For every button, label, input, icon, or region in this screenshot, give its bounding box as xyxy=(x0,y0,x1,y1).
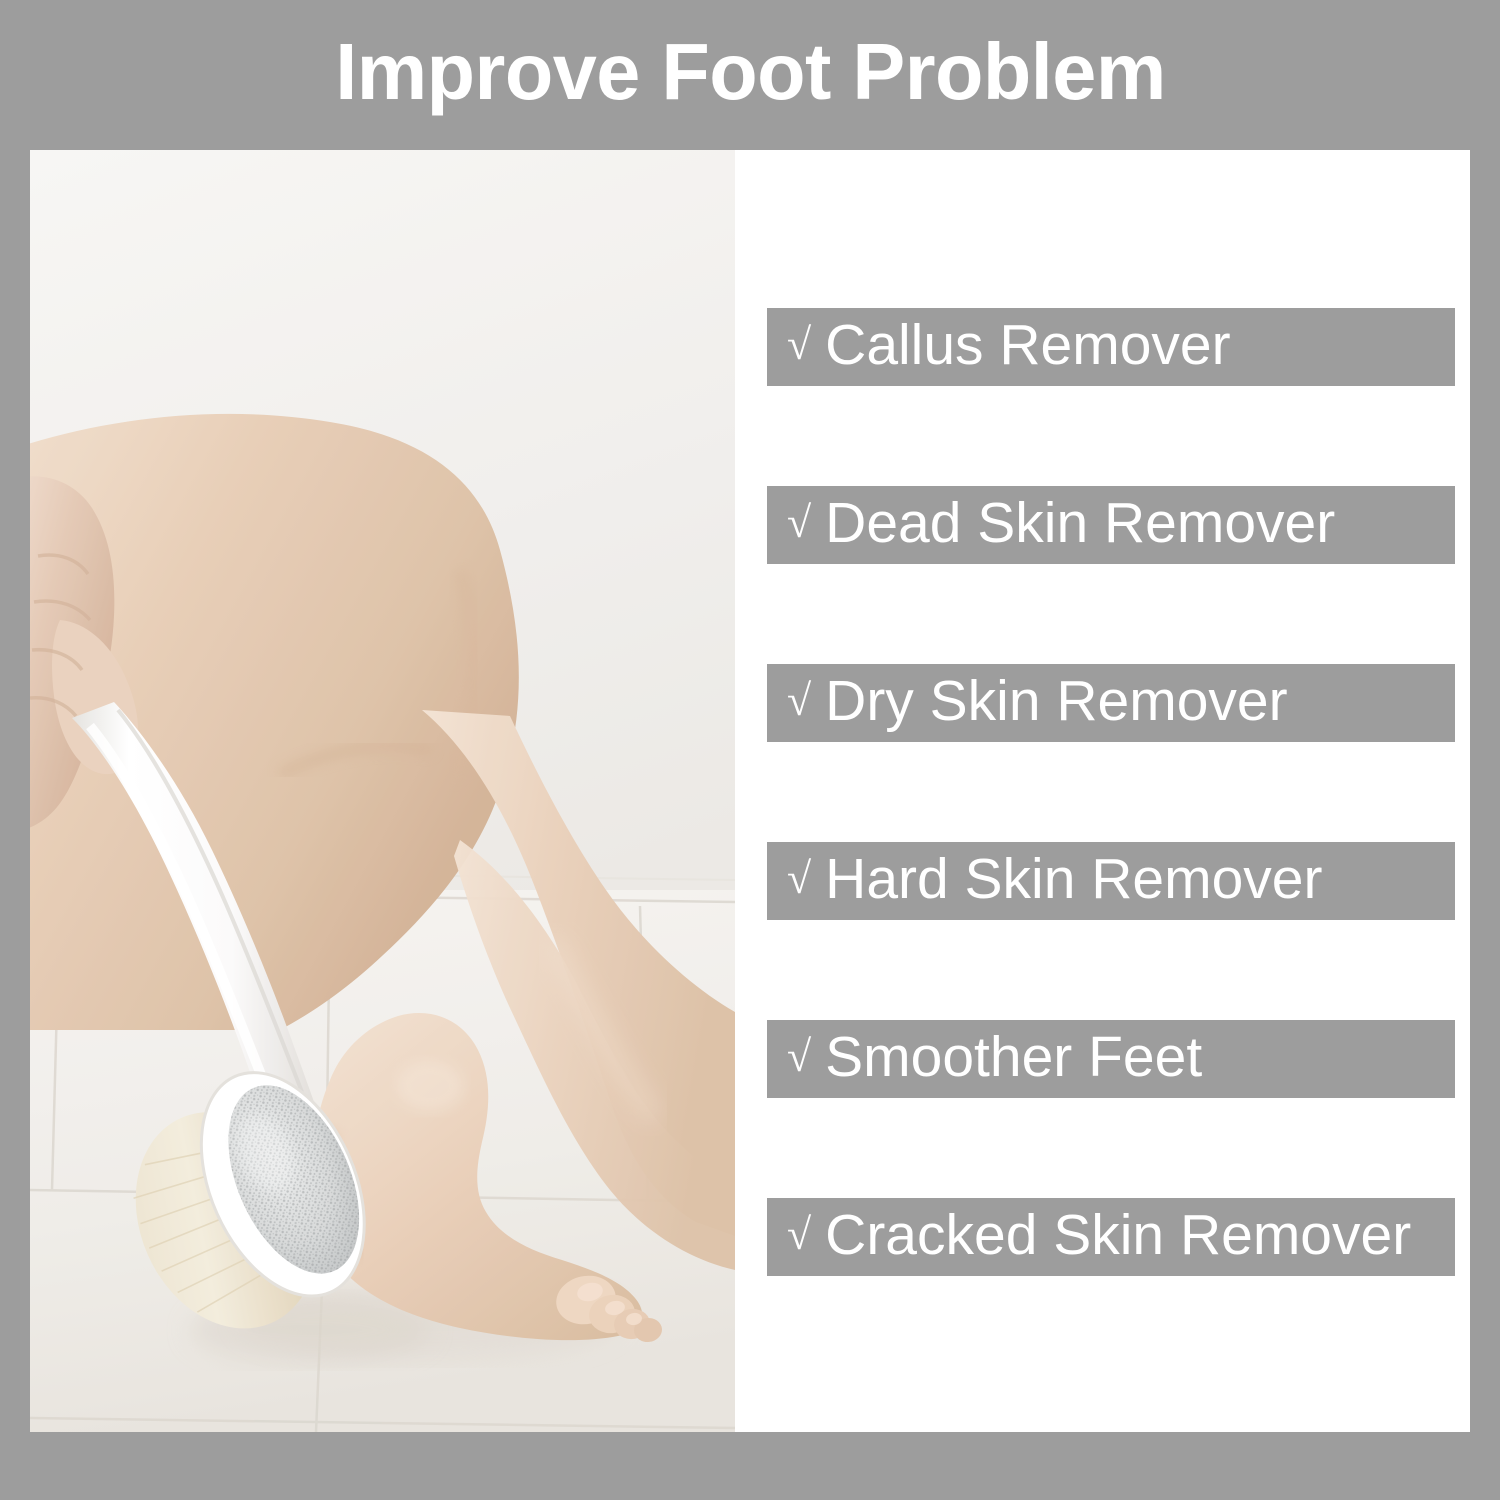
feature-label: Dry Skin Remover xyxy=(825,673,1287,730)
feature-label: Callus Remover xyxy=(825,317,1230,374)
product-photo xyxy=(30,150,735,1432)
poster-header: Improve Foot Problem xyxy=(0,0,1500,150)
feature-list: √ Callus Remover √ Dead Skin Remover √ D… xyxy=(767,308,1455,1276)
feature-label: Dead Skin Remover xyxy=(825,495,1335,552)
check-icon: √ xyxy=(787,501,811,545)
feature-item-cracked-skin-remover[interactable]: √ Cracked Skin Remover xyxy=(767,1198,1455,1276)
product-photo-illustration xyxy=(30,150,735,1432)
check-icon: √ xyxy=(787,857,811,901)
page-title: Improve Foot Problem xyxy=(335,32,1166,118)
feature-label: Cracked Skin Remover xyxy=(825,1207,1411,1264)
feature-item-dead-skin-remover[interactable]: √ Dead Skin Remover xyxy=(767,486,1455,564)
check-icon: √ xyxy=(787,323,811,367)
feature-item-smoother-feet[interactable]: √ Smoother Feet xyxy=(767,1020,1455,1098)
check-icon: √ xyxy=(787,1213,811,1257)
check-icon: √ xyxy=(787,679,811,723)
feature-item-callus-remover[interactable]: √ Callus Remover xyxy=(767,308,1455,386)
feature-label: Hard Skin Remover xyxy=(825,851,1322,908)
feature-label: Smoother Feet xyxy=(825,1029,1202,1086)
feature-item-dry-skin-remover[interactable]: √ Dry Skin Remover xyxy=(767,664,1455,742)
content-card: √ Callus Remover √ Dead Skin Remover √ D… xyxy=(30,150,1470,1432)
product-feature-poster: Improve Foot Problem xyxy=(0,0,1500,1500)
feature-item-hard-skin-remover[interactable]: √ Hard Skin Remover xyxy=(767,842,1455,920)
check-icon: √ xyxy=(787,1035,811,1079)
feature-list-panel: √ Callus Remover √ Dead Skin Remover √ D… xyxy=(735,150,1470,1432)
